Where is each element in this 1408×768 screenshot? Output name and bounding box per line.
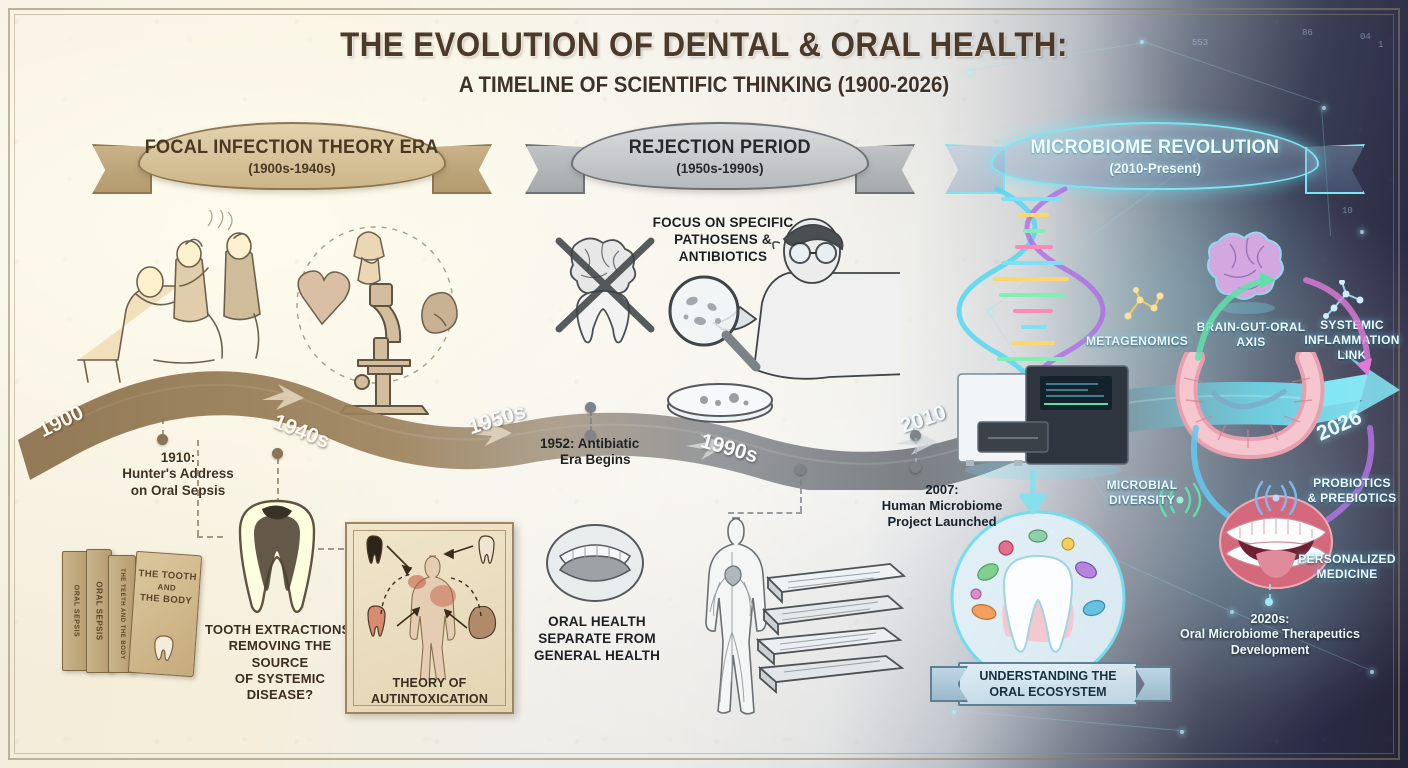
journal-stack-illustration xyxy=(750,552,910,700)
milestone-line2: Era Begins xyxy=(540,452,688,468)
book-cover-text: THE TOOTH AND THE BODY xyxy=(134,568,200,609)
banner-understanding-oral-ecosystem: UNDERSTANDING THE ORAL ECOSYSTEM xyxy=(958,662,1138,706)
caption-theory-of-autointoxication: THEORY OF AUTINTOXICATION xyxy=(347,676,512,707)
tooth-cross-section-illustration xyxy=(222,495,332,625)
title-block: THE EVOLUTION OF DENTAL & ORAL HEALTH: A… xyxy=(0,26,1408,98)
tooth-icon xyxy=(152,633,176,662)
page-subtitle: A TIMELINE OF SCIENTIFIC THINKING (1900-… xyxy=(49,72,1358,98)
milestone-line2: Hunter's Address xyxy=(108,466,248,482)
milestone-1952: 1952: Antibiatic Era Begins xyxy=(540,436,688,469)
milestone-connector xyxy=(1269,584,1271,600)
infographic-poster: 553 10 1 04 86 THE EVOLUTION OF DENTAL &… xyxy=(0,0,1408,768)
open-mouth-gray-illustration xyxy=(540,520,650,606)
era-banner-years: (1950s-1990s) xyxy=(676,160,763,176)
book-spine-text: THE TEETH AND THE BODY xyxy=(119,568,125,659)
milestone-line3: Development xyxy=(1160,643,1380,658)
banner-text: UNDERSTANDING THE ORAL ECOSYSTEM xyxy=(979,668,1116,701)
milestone-1910: 1910: Hunter's Address on Oral Sepsis xyxy=(108,450,248,499)
era-banner-focal-infection: FOCAL INFECTION THEORY ERA (1900s-1940s) xyxy=(92,122,492,196)
book-front-cover: THE TOOTH AND THE BODY xyxy=(128,551,202,677)
caption-tooth-extractions: TOOTH EXTRACTIONS: REMOVING THE SOURCE O… xyxy=(200,622,360,703)
milestone-2020s: 2020s: Oral Microbiome Therapeutics Deve… xyxy=(1160,612,1380,658)
oral-ecosystem-circle-illustration xyxy=(948,508,1128,688)
milestone-date: 2007: xyxy=(862,482,1022,498)
era-banner-title: MICROBIOME REVOLUTION xyxy=(1031,137,1280,159)
oral-sepsis-books-illustration: ORAL SEPSIS ORAL SEPSIS THE TEETH AND TH… xyxy=(52,545,202,675)
milestone-connector xyxy=(197,440,199,536)
ribbon-plate: REJECTION PERIOD (1950s-1990s) xyxy=(571,122,869,190)
milestone-connector xyxy=(197,536,223,538)
milestone-date: 2020s: xyxy=(1160,612,1380,627)
milestone-date: 1952: Antibiatic xyxy=(540,436,688,452)
era-banner-years: (2010-Present) xyxy=(1109,160,1201,176)
milestone-line3: Project Launched xyxy=(862,514,1022,530)
milestone-connector xyxy=(800,470,802,512)
caption-microbial-diversity: MICROBIAL DIVERSITY xyxy=(1094,478,1190,508)
milestone-date: 1910: xyxy=(108,450,248,466)
milestone-connector xyxy=(162,418,164,436)
petri-dish-illustration xyxy=(660,378,780,428)
ribbon-plate: MICROBIOME REVOLUTION (2010-Present) xyxy=(991,122,1319,190)
era-banner-rejection: REJECTION PERIOD (1950s-1990s) xyxy=(525,122,915,196)
milestone-line2: Human Microbiome xyxy=(862,498,1022,514)
milestone-node-2007 xyxy=(910,462,921,473)
caption-oral-health-separate: ORAL HEALTH SEPARATE FROM GENERAL HEALTH xyxy=(522,614,672,665)
milestone-connector xyxy=(590,410,592,432)
era-banner-title: FOCAL INFECTION THEORY ERA xyxy=(145,137,439,159)
book-spine-text: ORAL SEPSIS xyxy=(73,585,80,637)
era-banner-years: (1900s-1940s) xyxy=(248,160,335,176)
caption-personalized-medicine: PERSONALIZED MEDICINE xyxy=(1294,552,1400,582)
autointoxication-card: THEORY OF AUTINTOXICATION xyxy=(345,522,514,714)
milestone-node-1990s xyxy=(795,464,806,475)
signal-waves-icon xyxy=(1252,478,1300,518)
milestone-2007: 2007: Human Microbiome Project Launched xyxy=(862,482,1022,530)
milestone-connector xyxy=(915,438,917,464)
page-title: THE EVOLUTION OF DENTAL & ORAL HEALTH: xyxy=(56,26,1351,65)
ribbon-plate: FOCAL INFECTION THEORY ERA (1900s-1940s) xyxy=(138,122,446,190)
caption-probiotics-prebiotics: PROBIOTICS & PREBIOTICS xyxy=(1300,476,1404,506)
milestone-line2: Oral Microbiome Therapeutics xyxy=(1160,627,1380,642)
era-banner-title: REJECTION PERIOD xyxy=(629,137,811,159)
autointoxication-diagram xyxy=(355,530,504,680)
book-spine-text: ORAL SEPSIS xyxy=(95,581,104,640)
scientist-with-petri-dish-illustration xyxy=(660,215,900,405)
